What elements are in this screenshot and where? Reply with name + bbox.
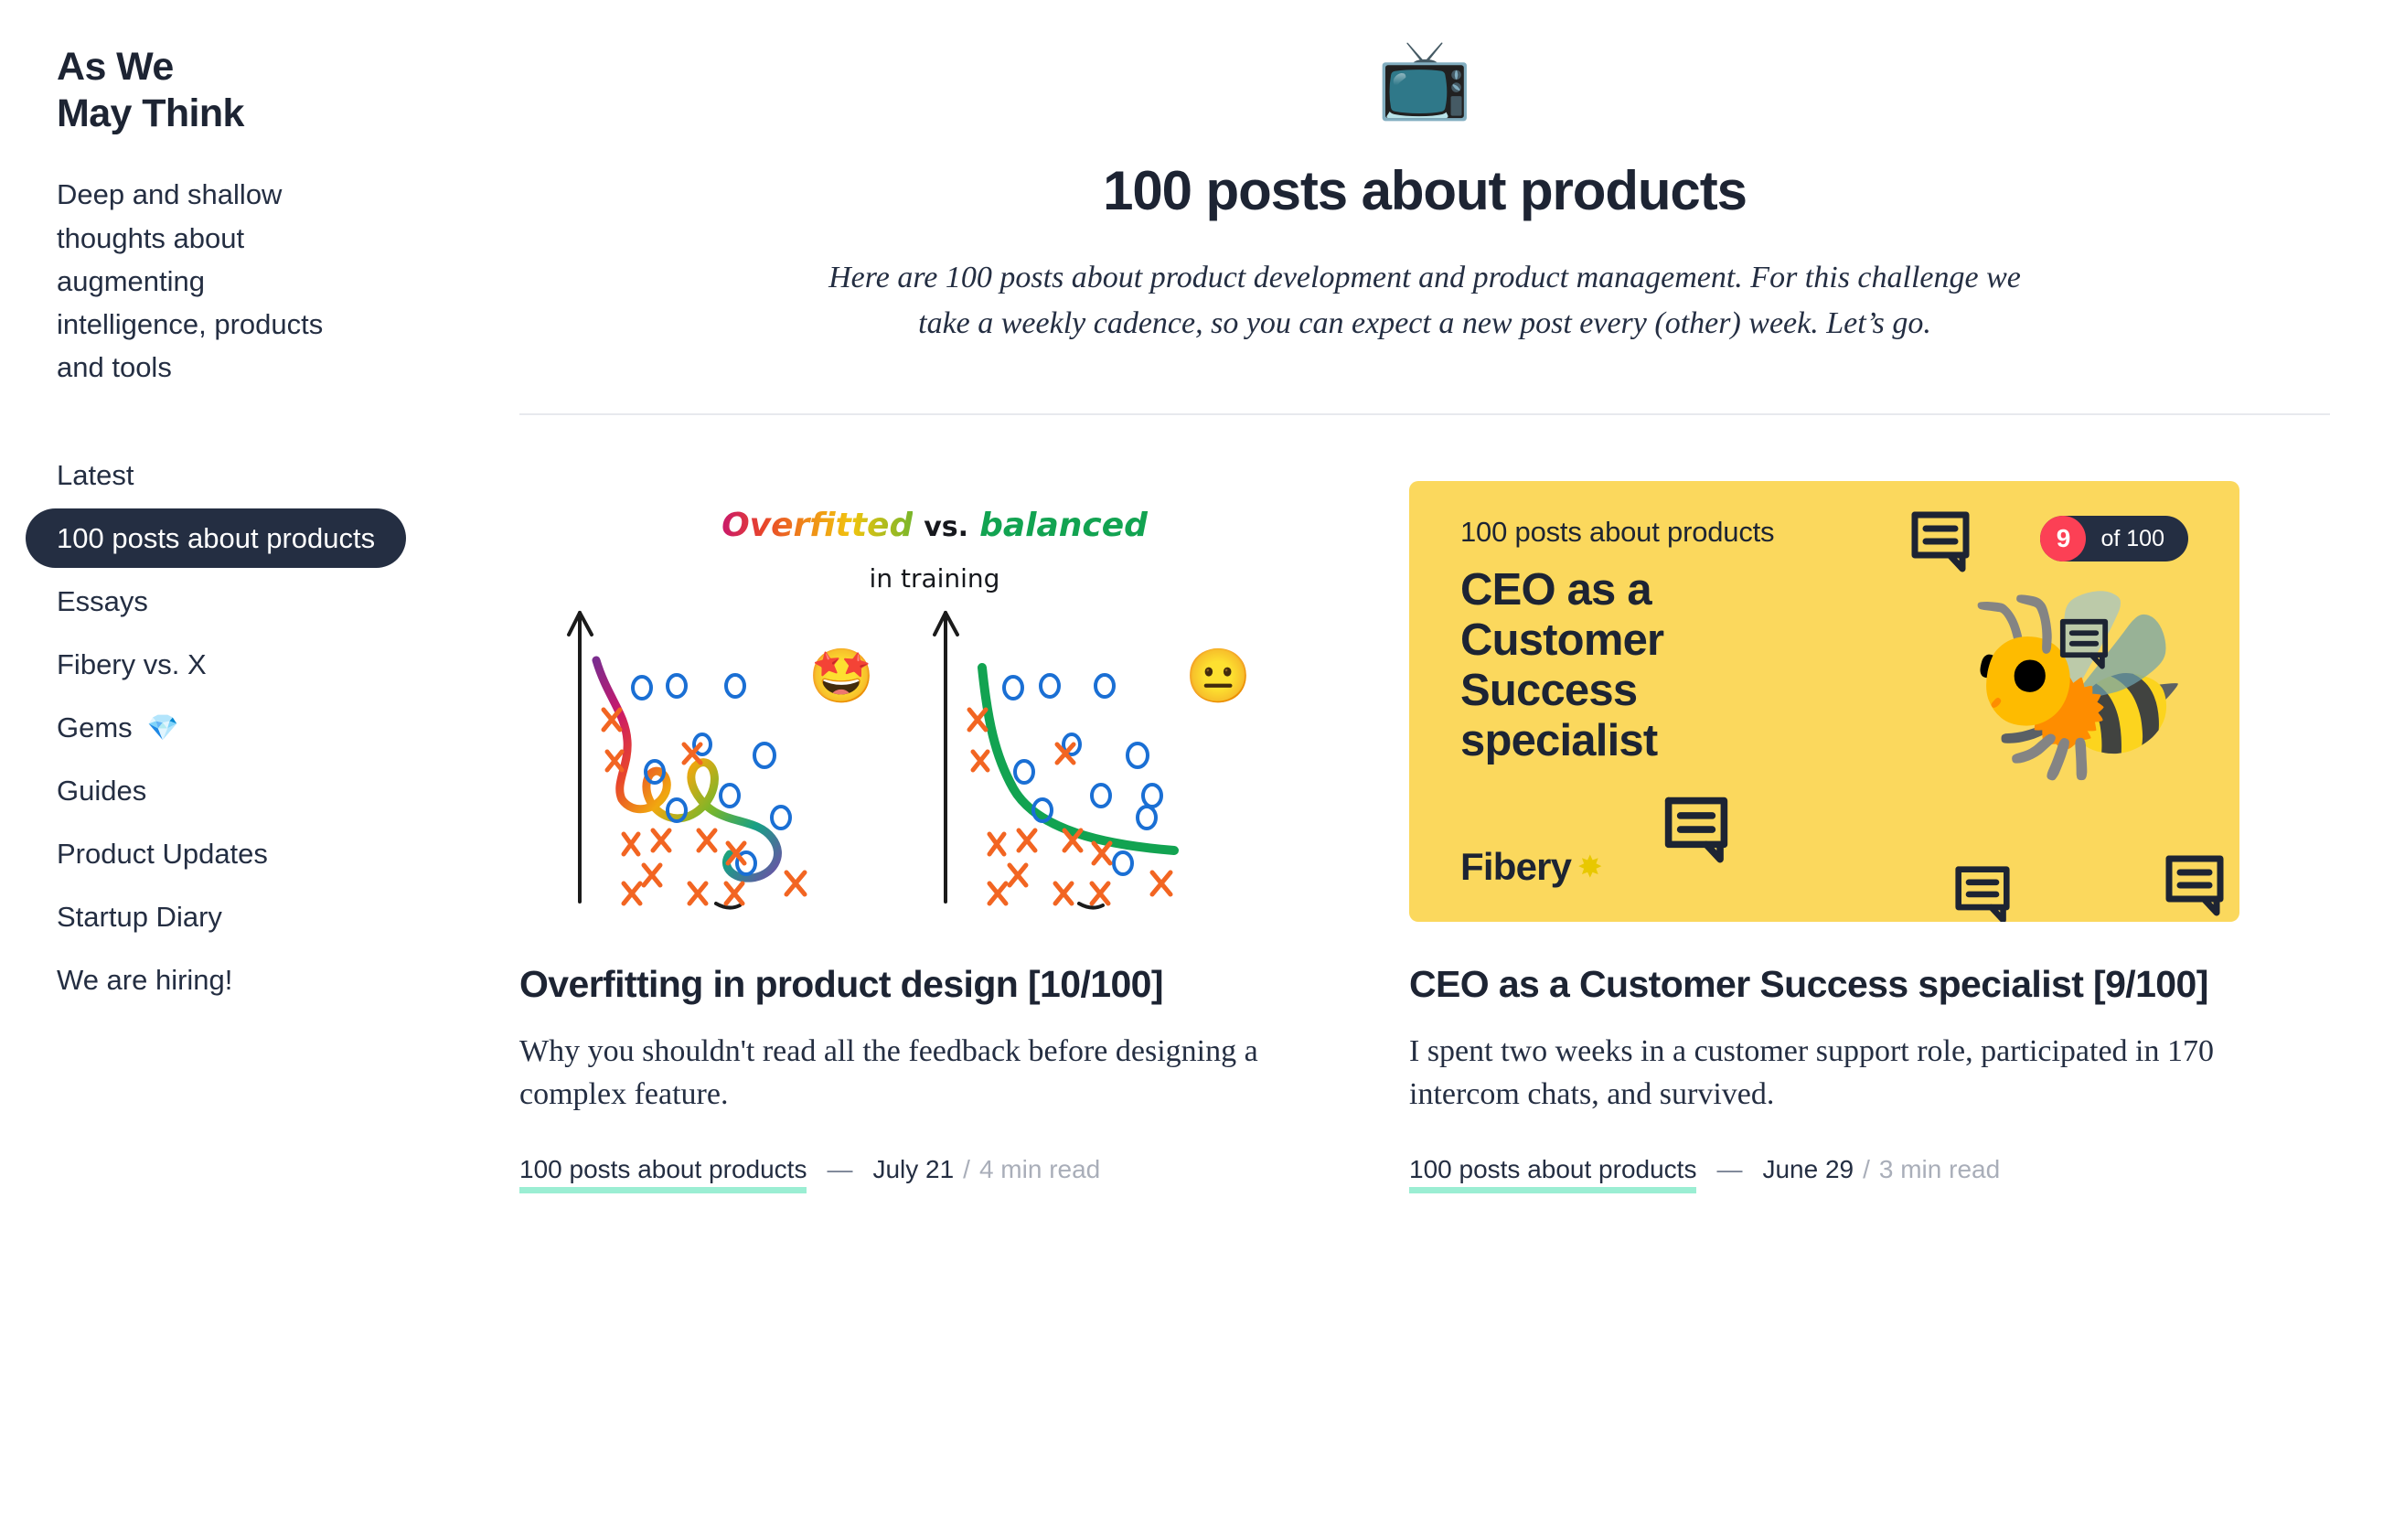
fibery-logo: Fibery ✸: [1460, 845, 1601, 889]
fibery-logo-text: Fibery: [1460, 845, 1571, 889]
sidebar-item-label: Guides: [57, 776, 146, 805]
promo-title: CEO as a Customer Success specialist: [1460, 565, 1753, 766]
post-card[interactable]: Overfittedvs.balanced in training: [519, 481, 1350, 1187]
section-divider: [519, 413, 2330, 415]
speech-bubble-icon: [1663, 794, 1729, 863]
speech-bubble-icon: [1954, 863, 2011, 922]
post-meta: 100 posts about products — July 21 / 4 m…: [519, 1155, 1350, 1187]
post-tag-link[interactable]: 100 posts about products: [519, 1155, 807, 1187]
badge-suffix: of 100: [2100, 526, 2164, 552]
page-root: As We May Think Deep and shallow thought…: [0, 0, 2394, 1540]
post-thumbnail-ceo-customer-success[interactable]: 100 posts about products CEO as a Custom…: [1409, 481, 2239, 922]
post-meta: 100 posts about products — June 29 / 3 m…: [1409, 1155, 2239, 1187]
sidebar-item-startup-diary[interactable]: Startup Diary: [57, 887, 222, 946]
post-card[interactable]: 100 posts about products CEO as a Custom…: [1409, 481, 2239, 1187]
television-icon: 📺: [519, 40, 2330, 117]
gem-icon: 💎: [147, 715, 179, 741]
page-description: Here are 100 posts about product develop…: [812, 255, 2037, 346]
page-title: 100 posts about products: [519, 159, 2330, 222]
sidebar-item-we-are-hiring[interactable]: We are hiring!: [57, 950, 232, 1010]
post-title[interactable]: CEO as a Customer Success specialist [9/…: [1409, 962, 2239, 1007]
star-struck-emoji: 🤩: [808, 650, 874, 703]
site-description: Deep and shallow thoughts about augmenti…: [57, 173, 331, 389]
meta-slash: /: [1863, 1155, 1870, 1184]
meta-slash: /: [963, 1155, 970, 1184]
promo-kicker: 100 posts about products: [1460, 516, 1774, 549]
status-badge: 9 of 100: [2040, 516, 2188, 561]
post-list: Overfittedvs.balanced in training: [519, 481, 2330, 1187]
meta-dash: —: [827, 1155, 852, 1184]
sidebar-item-label: Latest: [57, 461, 134, 489]
neutral-face-emoji: 😐: [1185, 650, 1251, 703]
post-excerpt: I spent two weeks in a customer support …: [1409, 1031, 2239, 1117]
sidebar-item-product-updates[interactable]: Product Updates: [57, 824, 268, 883]
post-tag-link[interactable]: 100 posts about products: [1409, 1155, 1696, 1187]
hand-drawn-illustration: Overfittedvs.balanced in training: [519, 481, 1350, 922]
promo-card: 100 posts about products CEO as a Custom…: [1409, 481, 2239, 922]
badge-number: 9: [2040, 516, 2086, 561]
sidebar-item-label: Essays: [57, 587, 148, 615]
speech-bubble-icon: [2164, 852, 2225, 916]
sidebar-item-guides[interactable]: Guides: [57, 761, 146, 820]
meta-dash: —: [1716, 1155, 1742, 1184]
sidebar-nav: Latest 100 posts about products Essays F…: [57, 445, 519, 1010]
masthead: 📺 100 posts about products Here are 100 …: [519, 0, 2330, 346]
post-read-time: 3 min read: [1879, 1155, 2000, 1184]
sidebar-item-fibery-vs-x[interactable]: Fibery vs. X: [57, 635, 207, 694]
main-content: 📺 100 posts about products Here are 100 …: [519, 0, 2394, 1540]
post-read-time: 4 min read: [979, 1155, 1100, 1184]
post-excerpt: Why you shouldn't read all the feedback …: [519, 1031, 1350, 1117]
speech-bubble-icon: [2058, 616, 2110, 669]
sidebar-item-latest[interactable]: Latest: [57, 445, 134, 505]
fibery-logo-mark: ✸: [1578, 851, 1600, 883]
site-brand[interactable]: As We May Think: [57, 44, 519, 136]
post-thumbnail-overfitting[interactable]: Overfittedvs.balanced in training: [519, 481, 1350, 922]
sidebar: As We May Think Deep and shallow thought…: [0, 0, 519, 1540]
sidebar-item-label: 100 posts about products: [57, 524, 375, 552]
sidebar-item-gems[interactable]: Gems 💎: [57, 698, 179, 757]
sidebar-item-essays[interactable]: Essays: [57, 572, 148, 631]
speech-bubble-icon: [1910, 508, 1971, 572]
sidebar-item-100-posts-about-products[interactable]: 100 posts about products: [26, 508, 406, 568]
sidebar-item-label: We are hiring!: [57, 966, 232, 994]
post-date: July 21: [872, 1155, 954, 1184]
sidebar-item-label: Product Updates: [57, 840, 268, 868]
sidebar-item-label: Gems: [57, 713, 133, 742]
post-date: June 29: [1762, 1155, 1854, 1184]
sidebar-item-label: Startup Diary: [57, 903, 222, 931]
post-title[interactable]: Overfitting in product design [10/100]: [519, 962, 1350, 1007]
sidebar-item-label: Fibery vs. X: [57, 650, 207, 679]
